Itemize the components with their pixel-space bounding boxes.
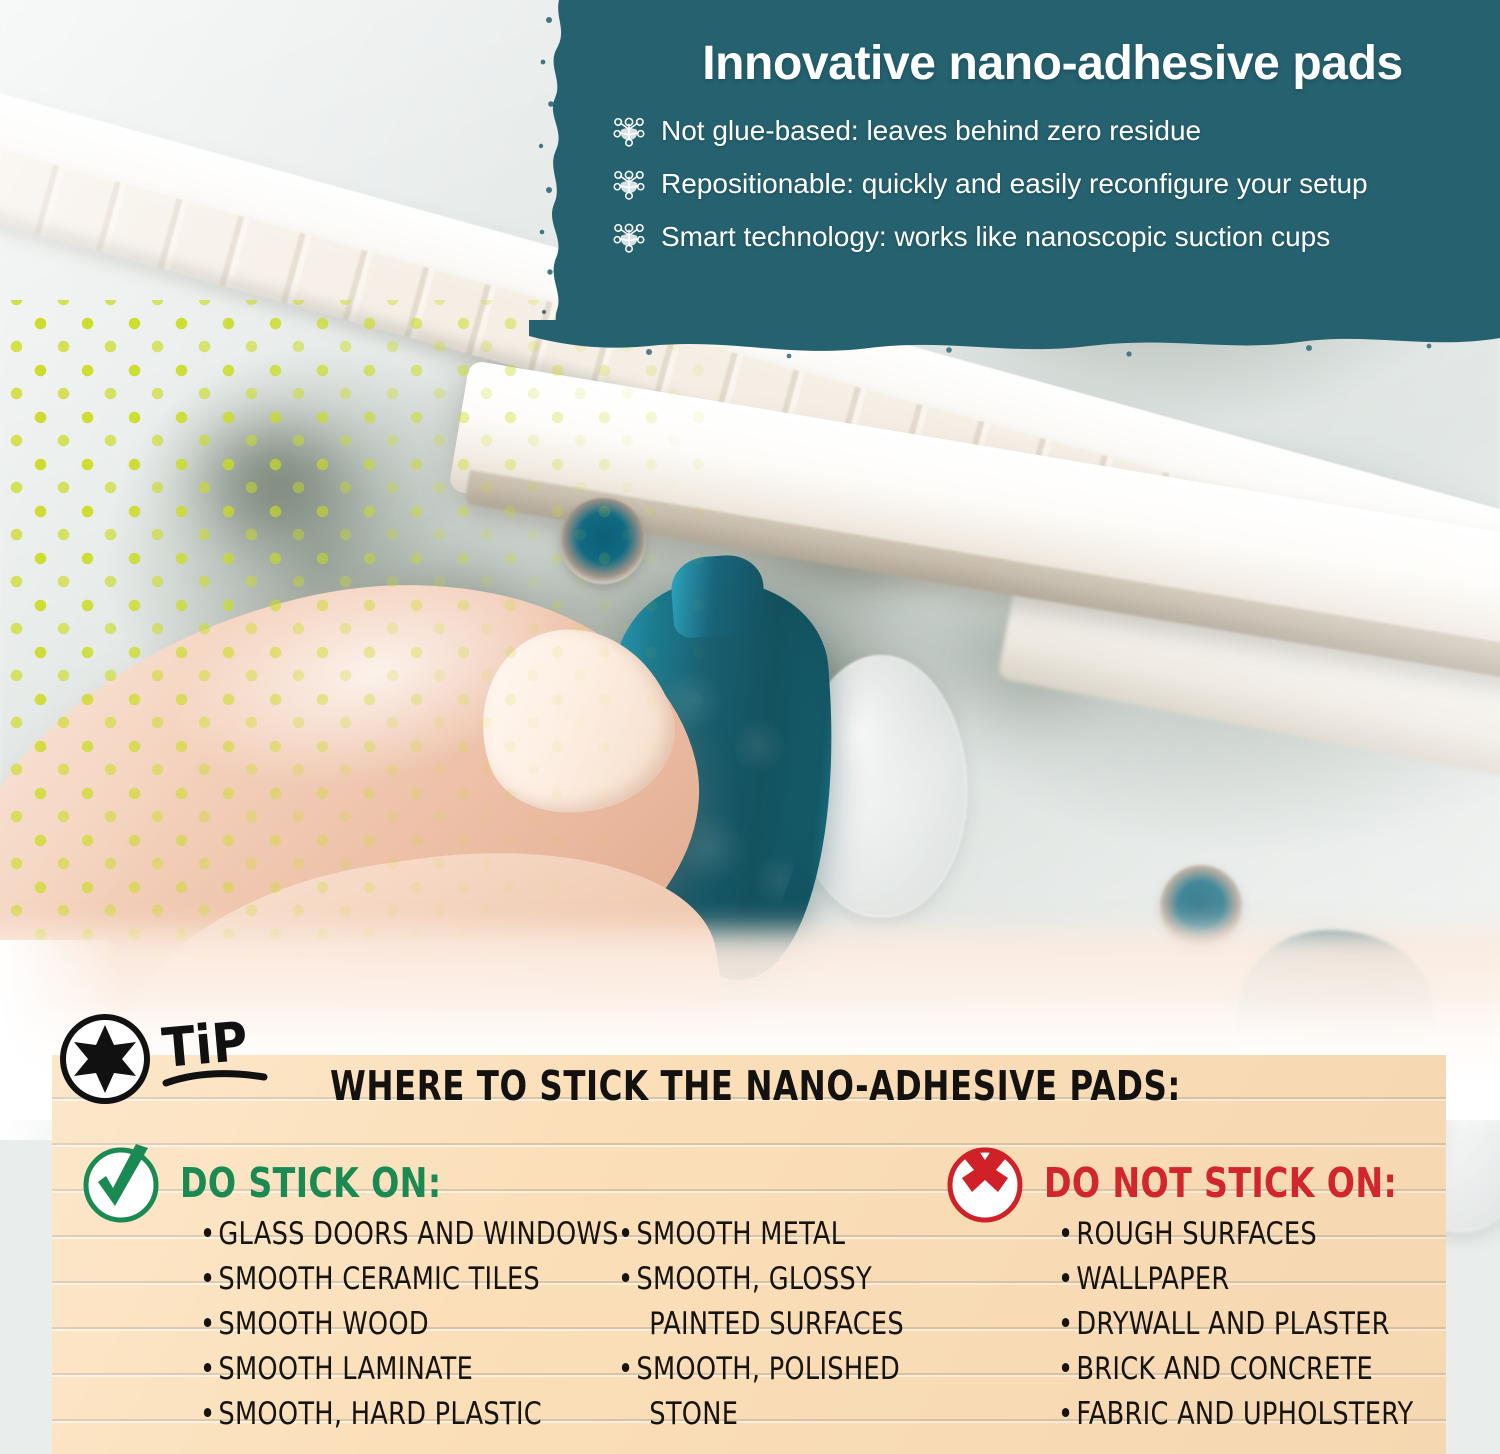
brush-edge-left-icon — [529, 0, 589, 332]
list-item: •BRICK AND CONCRETE — [1058, 1347, 1413, 1392]
list-item: •ROUGH SURFACES — [1058, 1212, 1413, 1257]
list-item-label: Smart technology: works like nanoscopic … — [661, 221, 1330, 252]
green-check-circle-icon — [78, 1140, 164, 1226]
list-item: Smart technology: works like nanoscopic … — [611, 219, 1491, 255]
brush-edge-bottom-icon — [529, 320, 1500, 366]
star-burst-icon — [58, 1012, 152, 1106]
list-item: •SMOOTH LAMINATE — [200, 1347, 619, 1392]
list-item: Not glue-based: leaves behind zero resid… — [611, 113, 1491, 149]
nano-molecule-icon — [611, 219, 647, 255]
list-item: •SMOOTH, POLISHED — [618, 1347, 904, 1392]
do-stick-title: DO STICK ON: — [180, 1159, 441, 1207]
list-item-continuation: PAINTED SURFACES — [618, 1302, 904, 1347]
feature-bullet-list: Not glue-based: leaves behind zero resid… — [611, 113, 1491, 272]
tip-heading: WHERE TO STICK THE NANO-ADHESIVE PADS: — [330, 1062, 1052, 1118]
nano-molecule-icon — [611, 113, 647, 149]
list-item: •SMOOTH, HARD PLASTIC — [200, 1392, 619, 1437]
list-item: •GLASS DOORS AND WINDOWS — [200, 1212, 619, 1257]
header-panel: Innovative nano-adhesive pads Not glue-b… — [575, 0, 1500, 332]
list-item: •SMOOTH, GLOSSY — [618, 1257, 904, 1302]
list-item: •SMOOTH WOOD — [200, 1302, 619, 1347]
list-item-label: Not glue-based: leaves behind zero resid… — [661, 115, 1201, 146]
list-item: •SMOOTH CERAMIC TILES — [200, 1257, 619, 1302]
do-stick-list-left: •GLASS DOORS AND WINDOWS •SMOOTH CERAMIC… — [200, 1212, 655, 1437]
do-not-stick-list: •ROUGH SURFACES •WALLPAPER •DRYWALL AND … — [1058, 1212, 1444, 1437]
do-stick-list-right: •SMOOTH METAL •SMOOTH, GLOSSY PAINTED SU… — [618, 1212, 929, 1437]
list-item-label: Repositionable: quickly and easily recon… — [661, 168, 1368, 199]
list-item: Repositionable: quickly and easily recon… — [611, 166, 1491, 202]
nano-molecule-icon — [611, 166, 647, 202]
do-not-stick-title: DO NOT STICK ON: — [1044, 1159, 1397, 1207]
page-title: Innovative nano-adhesive pads — [630, 36, 1475, 91]
infographic-canvas: Innovative nano-adhesive pads Not glue-b… — [0, 0, 1500, 1454]
list-item: •SMOOTH METAL — [618, 1212, 904, 1257]
list-item: •WALLPAPER — [1058, 1257, 1413, 1302]
list-item: •DRYWALL AND PLASTER — [1058, 1302, 1413, 1347]
svg-text:TiP: TiP — [160, 1011, 250, 1080]
list-item: •FABRIC AND UPHOLSTERY — [1058, 1392, 1413, 1437]
tip-label: TiP — [160, 1011, 280, 1101]
list-item-continuation: STONE — [618, 1392, 904, 1437]
red-x-circle-icon — [942, 1140, 1028, 1226]
